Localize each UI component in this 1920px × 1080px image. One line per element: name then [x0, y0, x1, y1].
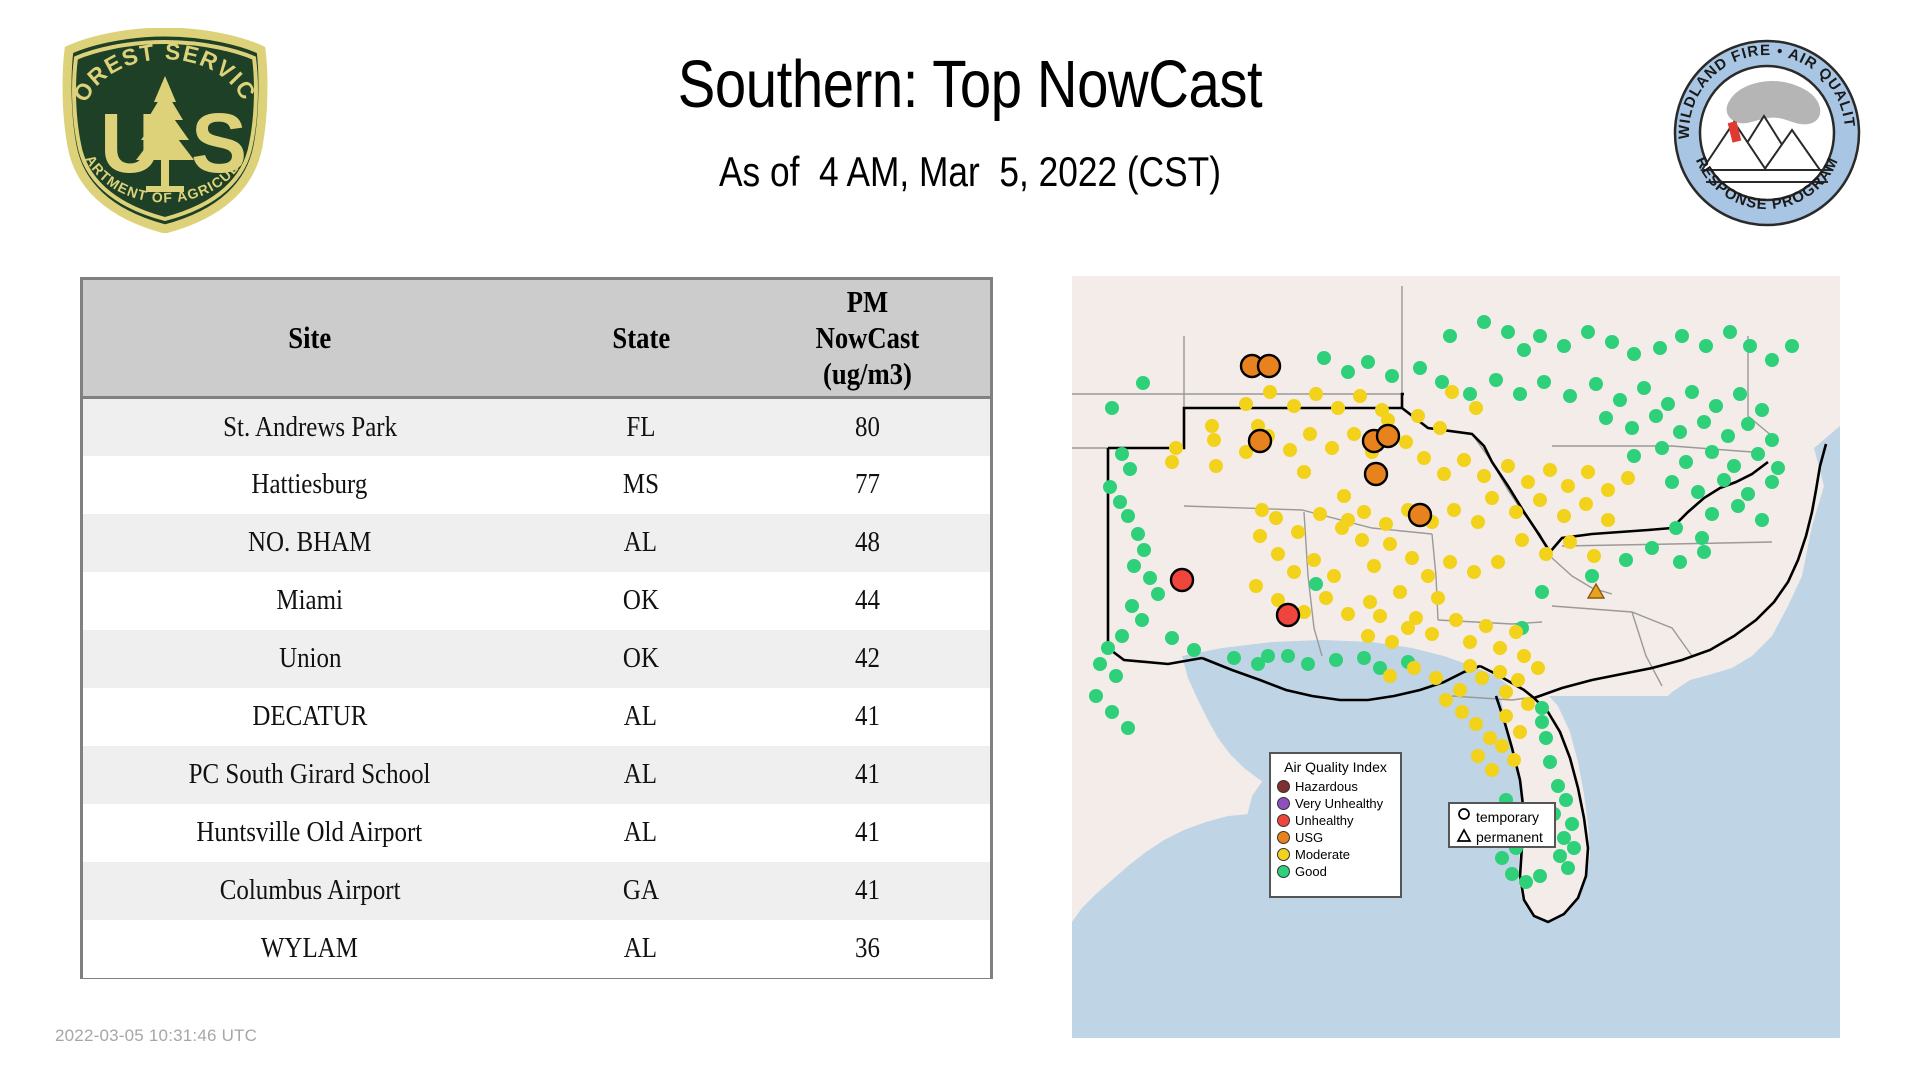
aqi-swatch-icon	[1277, 831, 1290, 844]
cell-site: Union	[83, 630, 537, 688]
cell-state: AL	[537, 514, 746, 572]
aqi-swatch-icon	[1277, 780, 1290, 793]
cell-site: Miami	[83, 572, 537, 630]
cell-site-text: WYLAM	[261, 932, 358, 965]
aqi-swatch-icon	[1277, 797, 1290, 810]
table-row: Huntsville Old AirportAL41	[83, 804, 990, 862]
cell-state-text: AL	[624, 816, 657, 849]
cell-site-text: NO. BHAM	[248, 526, 371, 559]
monitor-usg-no-bham	[1365, 463, 1387, 485]
cell-pm-nowcast-text: 41	[855, 874, 880, 907]
cell-pm-nowcast-text: 44	[855, 584, 880, 617]
cell-state-text: OK	[623, 584, 659, 617]
column-header-pm-line2: NowCast	[764, 320, 971, 356]
monitor-unhealthy-hattiesburg	[1171, 569, 1193, 591]
wfaqrp-seal-logo: WILDLAND FIRE • AIR QUALITY RESPONSE PRO…	[1672, 38, 1862, 228]
column-header-pm-nowcast: PM NowCast (ug/m3)	[745, 280, 990, 398]
cell-state-text: AL	[624, 700, 657, 733]
symbol-legend-label-temporary: temporary	[1476, 810, 1539, 824]
cell-site-text: Hattiesburg	[252, 468, 368, 501]
aqi-legend-row: Unhealthy	[1277, 812, 1394, 829]
aqi-swatch-icon	[1277, 848, 1290, 861]
cell-state: FL	[537, 398, 746, 456]
column-header-site-label: Site	[116, 320, 503, 356]
cell-pm-nowcast: 41	[745, 804, 990, 862]
cell-state-text: AL	[624, 758, 657, 791]
column-header-pm-line1: PM	[764, 284, 971, 320]
cell-site-text: Union	[279, 642, 341, 675]
monitor-unhealthy-st-andrews-park	[1277, 604, 1299, 626]
page-title: Southern: Top NowCast	[390, 50, 1549, 120]
cell-pm-nowcast: 77	[745, 456, 990, 514]
aqi-legend-label: Very Unhealthy	[1295, 797, 1383, 810]
aqi-legend-label: Hazardous	[1295, 780, 1358, 793]
table-row: WYLAMAL36	[83, 920, 990, 978]
cell-state: MS	[537, 456, 746, 514]
aqi-legend-label: Good	[1295, 865, 1327, 878]
cell-site-text: Miami	[276, 584, 343, 617]
cell-pm-nowcast: 41	[745, 862, 990, 920]
cell-site-text: PC South Girard School	[189, 758, 431, 791]
aqi-legend-label: USG	[1295, 831, 1323, 844]
cell-pm-nowcast-text: 48	[855, 526, 880, 559]
table-row: Columbus AirportGA41	[83, 862, 990, 920]
nowcast-table-container: Site State PM NowCast (ug/m3) St. Andrew…	[80, 277, 993, 979]
monitor-usg-huntsville-old-airport	[1377, 425, 1399, 447]
table-row: UnionOK42	[83, 630, 990, 688]
cell-pm-nowcast: 44	[745, 572, 990, 630]
cell-pm-nowcast: 48	[745, 514, 990, 572]
permanent-triangle-icon	[1455, 828, 1473, 846]
page-subtitle: As of 4 AM, Mar 5, 2022 (CST)	[390, 148, 1549, 196]
table-row: PC South Girard SchoolAL41	[83, 746, 990, 804]
cell-site-text: Huntsville Old Airport	[197, 816, 423, 849]
cell-site: WYLAM	[83, 920, 537, 978]
cell-pm-nowcast-text: 41	[855, 700, 880, 733]
table-row: St. Andrews ParkFL80	[83, 398, 990, 456]
cell-state: AL	[537, 688, 746, 746]
table-row: MiamiOK44	[83, 572, 990, 630]
cell-state-text: OK	[623, 642, 659, 675]
table-row: NO. BHAMAL48	[83, 514, 990, 572]
symbol-legend-row-permanent: permanent	[1455, 827, 1549, 847]
cell-site-text: Columbus Airport	[219, 874, 400, 907]
aqi-legend-row: Moderate	[1277, 846, 1394, 863]
slide-canvas: FOREST SERVICE U S DEPARTMENT OF AGRICUL…	[0, 0, 1920, 1080]
table-body: St. Andrews ParkFL80HattiesburgMS77NO. B…	[83, 398, 990, 978]
cell-site-text: St. Andrews Park	[223, 411, 397, 444]
table-row: HattiesburgMS77	[83, 456, 990, 514]
monitor-usg-union-ok	[1258, 355, 1280, 377]
symbol-legend-row-temporary: temporary	[1455, 807, 1549, 827]
cell-state: AL	[537, 746, 746, 804]
cell-state: OK	[537, 630, 746, 688]
aqi-legend-title: Air Quality Index	[1277, 759, 1394, 775]
column-header-pm-line3: (ug/m3)	[764, 356, 971, 392]
aqi-swatch-icon	[1277, 814, 1290, 827]
aqi-legend-row: USG	[1277, 829, 1394, 846]
cell-pm-nowcast-text: 42	[855, 642, 880, 675]
cell-site: Huntsville Old Airport	[83, 804, 537, 862]
cell-pm-nowcast: 42	[745, 630, 990, 688]
aqi-legend-label: Unhealthy	[1295, 814, 1354, 827]
aqi-legend-row: Good	[1277, 863, 1394, 880]
cell-pm-nowcast-text: 41	[855, 758, 880, 791]
footer-timestamp: 2022-03-05 10:31:46 UTC	[55, 1026, 257, 1046]
cell-state-text: AL	[624, 932, 657, 965]
cell-state-text: MS	[623, 468, 659, 501]
column-header-site: Site	[83, 280, 537, 398]
aqi-legend: Air Quality Index HazardousVery Unhealth…	[1269, 752, 1402, 898]
table-header: Site State PM NowCast (ug/m3)	[83, 280, 990, 398]
table-row: DECATURAL41	[83, 688, 990, 746]
cell-site: Hattiesburg	[83, 456, 537, 514]
cell-pm-nowcast: 41	[745, 746, 990, 804]
air-quality-map[interactable]	[1072, 276, 1840, 1038]
temporary-circle-icon	[1455, 808, 1473, 826]
cell-state: AL	[537, 920, 746, 978]
symbol-legend: temporary permanent	[1448, 802, 1556, 848]
cell-site: NO. BHAM	[83, 514, 537, 572]
table-header-row: Site State PM NowCast (ug/m3)	[83, 280, 990, 398]
symbol-legend-label-permanent: permanent	[1476, 830, 1543, 844]
cell-site: DECATUR	[83, 688, 537, 746]
cell-state: OK	[537, 572, 746, 630]
cell-site: St. Andrews Park	[83, 398, 537, 456]
nowcast-table: Site State PM NowCast (ug/m3) St. Andrew…	[83, 280, 990, 978]
cell-state-text: FL	[626, 411, 655, 444]
cell-state: GA	[537, 862, 746, 920]
cell-site-text: DECATUR	[252, 700, 367, 733]
aqi-swatch-icon	[1277, 865, 1290, 878]
aqi-legend-row: Hazardous	[1277, 778, 1394, 795]
cell-pm-nowcast-text: 77	[855, 468, 880, 501]
title-block: Southern: Top NowCast As of 4 AM, Mar 5,…	[280, 50, 1660, 196]
column-header-state-label: State	[553, 320, 729, 356]
cell-site: Columbus Airport	[83, 862, 537, 920]
us-forest-service-shield-logo: FOREST SERVICE U S DEPARTMENT OF AGRICUL…	[58, 28, 273, 233]
cell-state-text: GA	[623, 874, 659, 907]
cell-pm-nowcast: 36	[745, 920, 990, 978]
cell-pm-nowcast-text: 36	[855, 932, 880, 965]
cell-pm-nowcast-text: 41	[855, 816, 880, 849]
cell-state: AL	[537, 804, 746, 862]
aqi-legend-items: HazardousVery UnhealthyUnhealthyUSGModer…	[1277, 778, 1394, 880]
cell-pm-nowcast: 80	[745, 398, 990, 456]
cell-pm-nowcast: 41	[745, 688, 990, 746]
cell-state-text: AL	[624, 526, 657, 559]
cell-site: PC South Girard School	[83, 746, 537, 804]
column-header-state: State	[537, 280, 746, 398]
aqi-legend-label: Moderate	[1295, 848, 1350, 861]
map-svg	[1072, 276, 1840, 1038]
monitor-usg-columbus-airport	[1409, 504, 1431, 526]
cell-pm-nowcast-text: 80	[855, 411, 880, 444]
aqi-legend-row: Very Unhealthy	[1277, 795, 1394, 812]
